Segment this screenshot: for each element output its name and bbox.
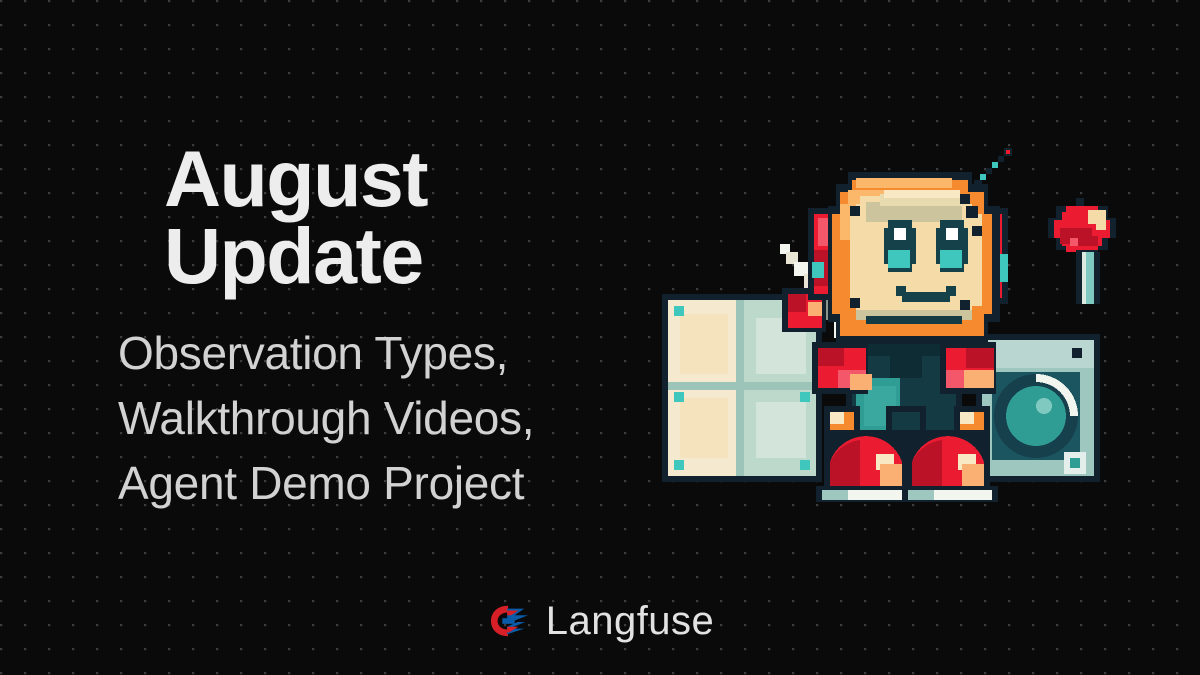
page-title: August Update xyxy=(118,140,638,295)
langfuse-logo-icon xyxy=(486,602,532,640)
left-arm xyxy=(812,342,872,394)
brand-wordmark: Langfuse xyxy=(546,601,715,641)
robot-mascot-illustration xyxy=(640,118,1140,518)
brand-footer: Langfuse xyxy=(0,601,1200,641)
hero-text-block: August Update Observation Types, Walkthr… xyxy=(118,140,638,517)
balloon-on-stick xyxy=(1048,198,1116,304)
antenna xyxy=(974,148,1012,188)
legs-and-boots xyxy=(816,406,998,502)
right-arm xyxy=(940,342,996,394)
page-subtitle: Observation Types, Walkthrough Videos, A… xyxy=(118,321,638,517)
hero-canvas: August Update Observation Types, Walkthr… xyxy=(0,0,1200,675)
robot-mascot-svg xyxy=(640,118,1140,518)
